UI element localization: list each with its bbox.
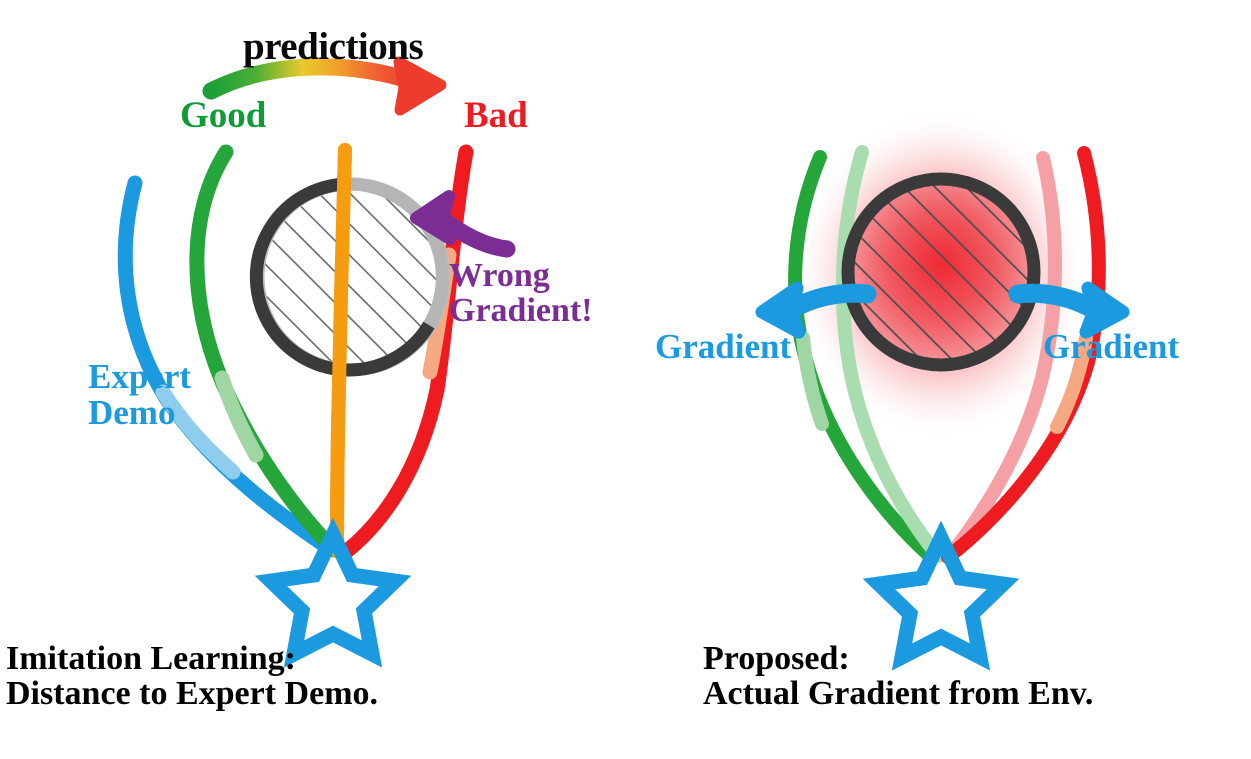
caption-proposed: Proposed: Actual Gradient from Env. [703,641,1093,712]
label-expert-demo: Expert Demo [88,359,191,432]
label-gradient-left: Gradient [655,329,791,365]
good-prediction-trajectory-fade [222,378,256,455]
caption-imitation-learning: Imitation Learning: Distance to Expert D… [6,641,378,712]
label-predictions: predictions [243,27,423,68]
right-panel-graphics [762,109,1123,657]
figure-root: predictions Good Bad Expert Demo Wrong G… [0,0,1251,759]
obstacle-hatched-circle-right [848,179,1034,365]
label-bad: Bad [464,97,528,135]
neutral-prediction-trajectory-front [337,150,345,551]
label-good: Good [180,97,266,135]
label-wrong-gradient: Wrong Gradient! [449,258,593,329]
label-gradient-right: Gradient [1043,329,1179,365]
